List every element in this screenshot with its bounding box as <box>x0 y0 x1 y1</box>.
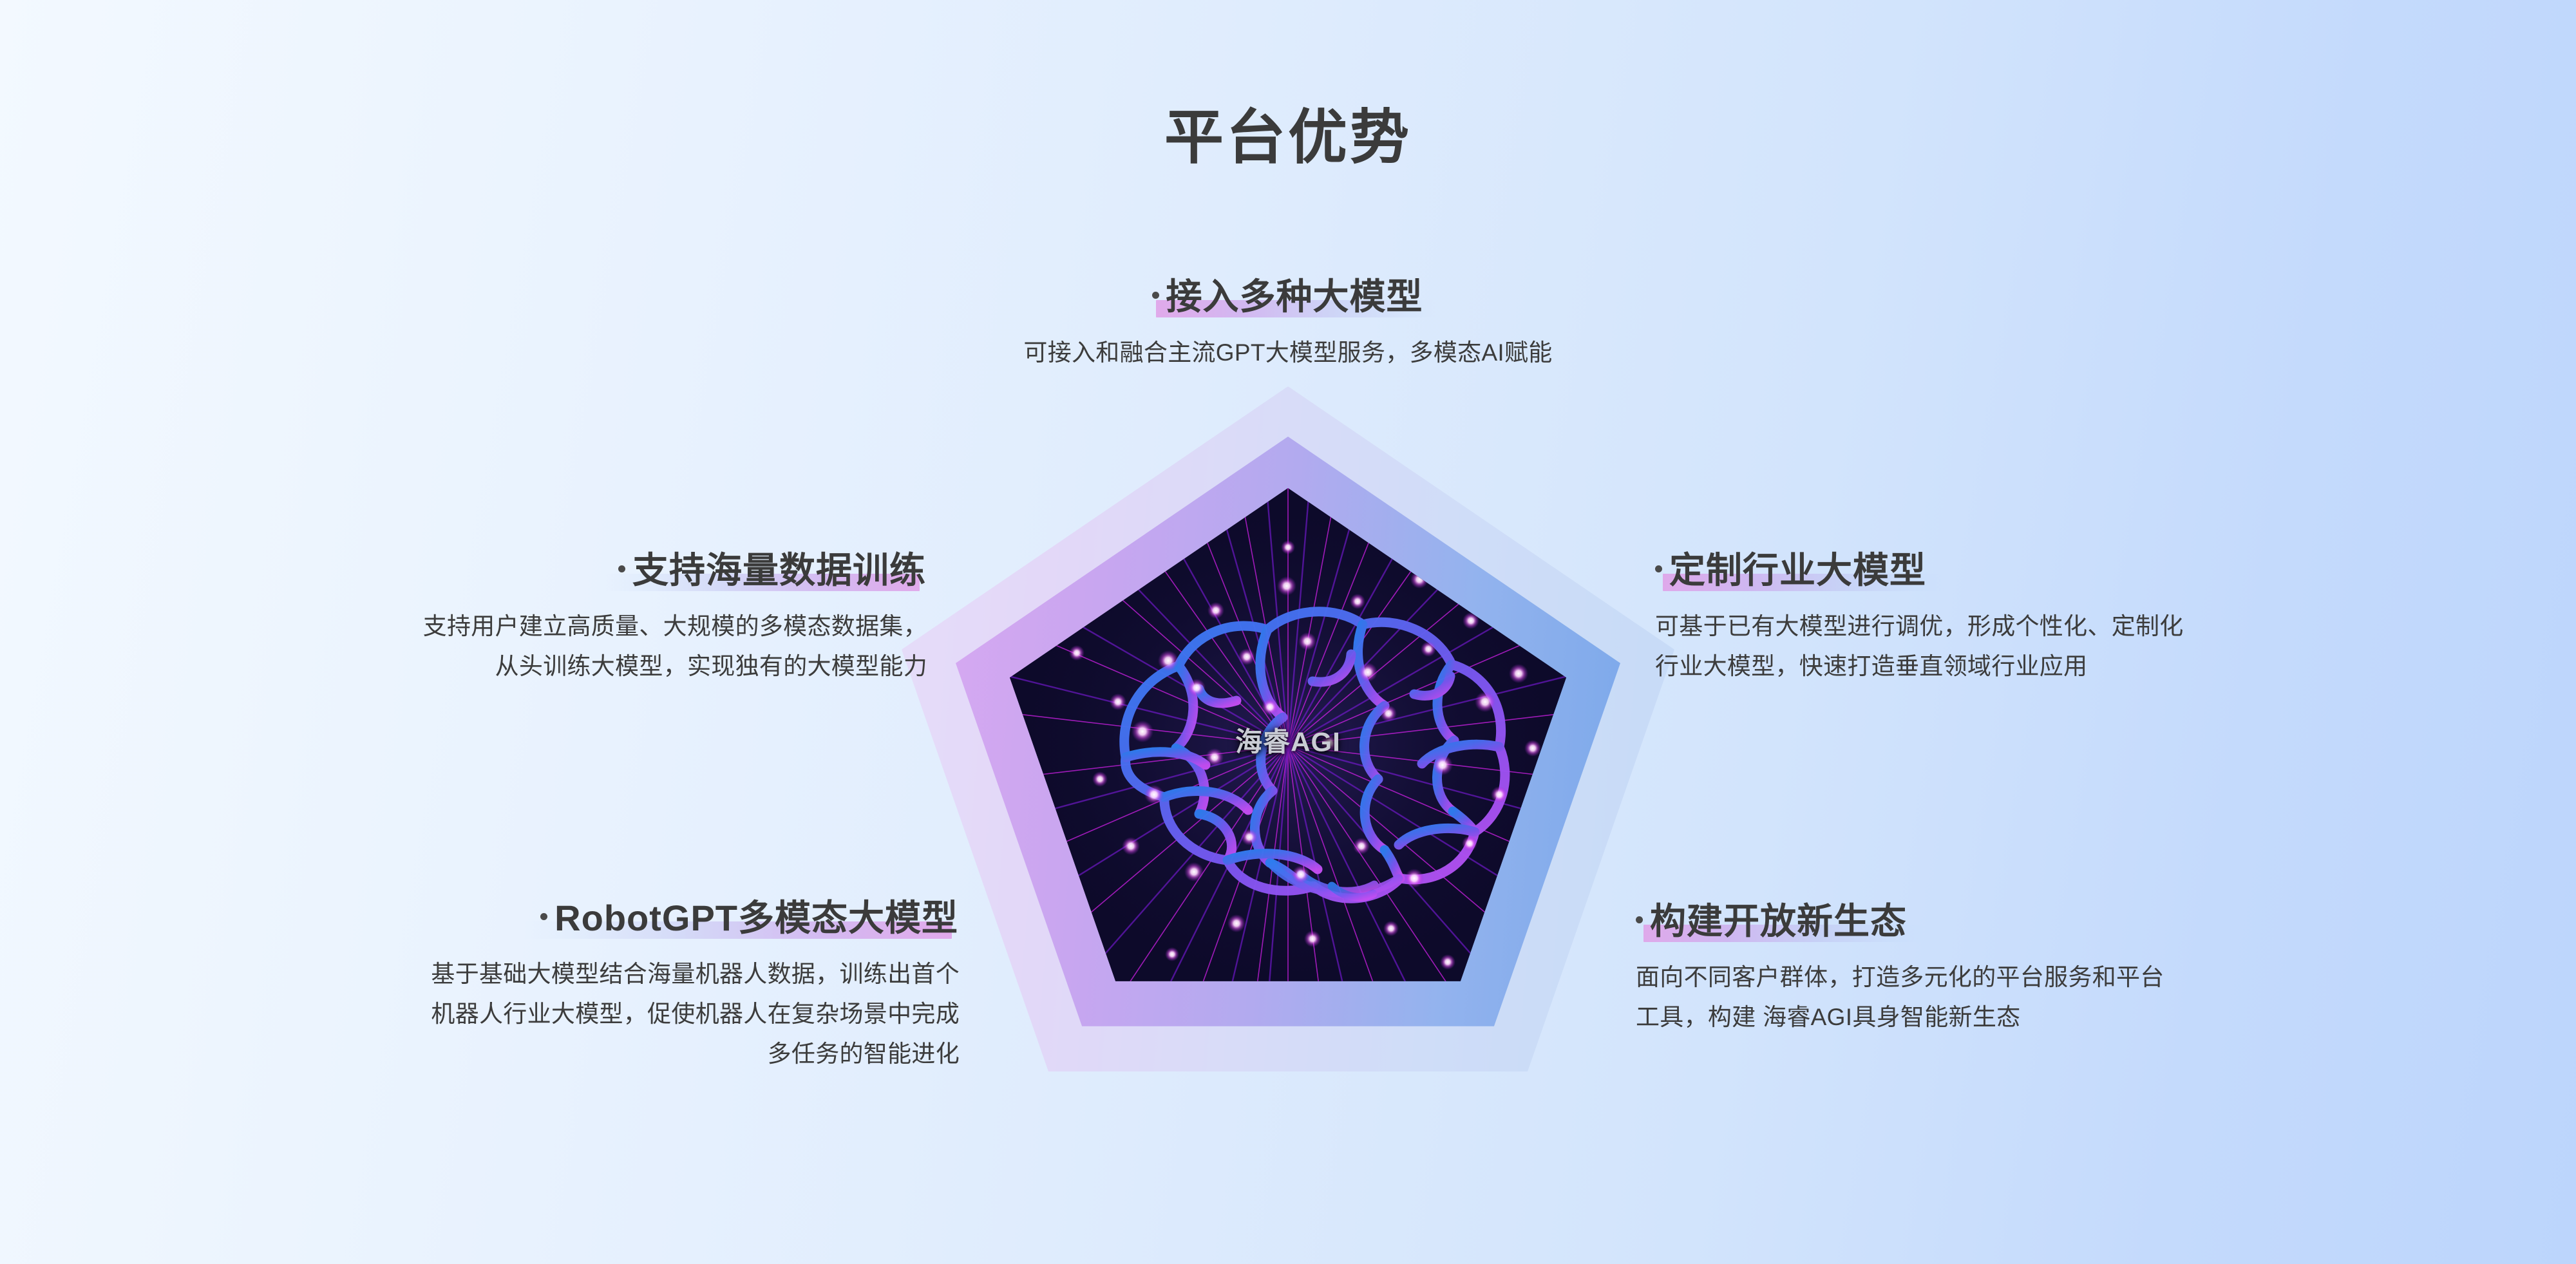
description-line: 工具，构建 海睿AGI具身智能新生态 <box>1636 997 2447 1037</box>
bullet-icon <box>1655 565 1662 572</box>
bullet-icon <box>1152 292 1159 299</box>
feature-description: 可基于已有大模型进行调优，形成个性化、定制化 行业大模型，快速打造垂直领域行业应… <box>1655 607 2441 686</box>
description-line: 从头训练大模型，实现独有的大模型能力 <box>167 646 927 686</box>
feature-description: 面向不同客户群体，打造多元化的平台服务和平台 工具，构建 海睿AGI具身智能新生… <box>1636 957 2447 1037</box>
feature-custom-industry-model: 定制行业大模型 可基于已有大模型进行调优，形成个性化、定制化 行业大模型，快速打… <box>1655 551 2441 686</box>
page-title: 平台优势 <box>0 108 2576 167</box>
description-line: 可接入和融合主流GPT大模型服务，多模态AI赋能 <box>760 333 1816 373</box>
description-line: 行业大模型，快速打造垂直领域行业应用 <box>1655 646 2441 686</box>
feature-description: 可接入和融合主流GPT大模型服务，多模态AI赋能 <box>760 333 1816 373</box>
description-line: 机器人行业大模型，促使机器人在复杂场景中完成 <box>148 994 960 1034</box>
feature-heading: 支持海量数据训练 <box>618 551 927 592</box>
feature-open-ecosystem: 构建开放新生态 面向不同客户群体，打造多元化的平台服务和平台 工具，构建 海睿A… <box>1636 901 2447 1037</box>
feature-heading: RobotGPT多模态大模型 <box>540 898 960 940</box>
feature-description: 支持用户建立高质量、大规模的多模态数据集， 从头训练大模型，实现独有的大模型能力 <box>167 607 927 686</box>
feature-heading: 定制行业大模型 <box>1655 551 1927 592</box>
feature-description: 基于基础大模型结合海量机器人数据，训练出首个 机器人行业大模型，促使机器人在复杂… <box>148 954 960 1074</box>
bullet-icon <box>540 913 547 920</box>
brain-label: 海睿AGI <box>1010 720 1566 759</box>
center-pentagon-graphic: 海睿AGI <box>902 386 1674 1108</box>
feature-access-multiple-models: 接入多种大模型 可接入和融合主流GPT大模型服务，多模态AI赋能 <box>760 277 1816 373</box>
description-line: 可基于已有大模型进行调优，形成个性化、定制化 <box>1655 607 2441 646</box>
description-line: 支持用户建立高质量、大规模的多模态数据集， <box>167 607 927 646</box>
feature-robotgpt-multimodal-model: RobotGPT多模态大模型 基于基础大模型结合海量机器人数据，训练出首个 机器… <box>148 898 960 1074</box>
feature-heading: 接入多种大模型 <box>1152 277 1425 319</box>
description-line: 面向不同客户群体，打造多元化的平台服务和平台 <box>1636 957 2447 997</box>
infographic-canvas: 平台优势 <box>0 0 2576 1264</box>
bullet-icon <box>618 565 625 572</box>
description-line: 多任务的智能进化 <box>148 1034 960 1074</box>
feature-massive-data-training: 支持海量数据训练 支持用户建立高质量、大规模的多模态数据集， 从头训练大模型，实… <box>167 551 927 686</box>
feature-heading: 构建开放新生态 <box>1636 901 1908 943</box>
description-line: 基于基础大模型结合海量机器人数据，训练出首个 <box>148 954 960 994</box>
bullet-icon <box>1636 916 1643 923</box>
